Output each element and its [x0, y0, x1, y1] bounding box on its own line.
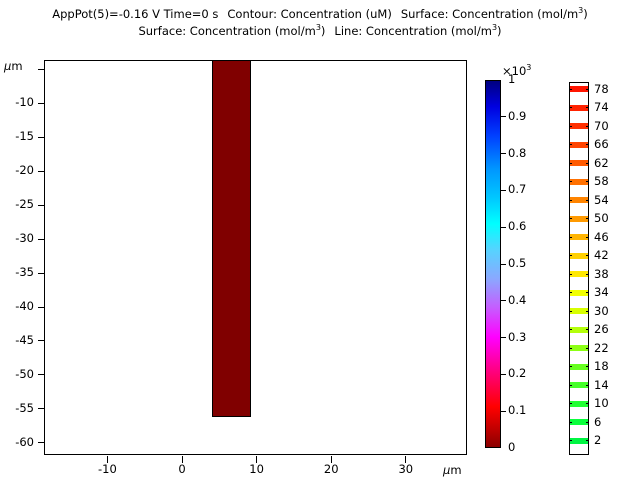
colorbar-tick: [501, 116, 506, 117]
colorbar-tick-label: 0.2: [508, 368, 526, 380]
contour-legend-tick-left: [569, 366, 572, 367]
x-axis-tick-label: 0: [157, 463, 207, 475]
title-line-label: Line: Concentration (mol/m3): [334, 24, 501, 38]
contour-legend-label: 62: [594, 158, 609, 170]
contour-legend-tick-right: [586, 89, 589, 90]
y-axis-tick-label: -60: [0, 437, 34, 449]
colorbar-tick: [501, 227, 506, 228]
contour-legend-band: [570, 86, 588, 92]
contour-legend-band: [570, 401, 588, 407]
surface-colorbar[interactable]: [485, 80, 501, 448]
contour-legend-band: [570, 308, 588, 314]
contour-legend-band: [570, 253, 588, 259]
colorbar-tick-label: 0.3: [508, 332, 526, 344]
y-axis-tick: [38, 239, 45, 240]
contour-legend-label: 22: [594, 343, 609, 355]
contour-legend-tick-left: [569, 144, 572, 145]
contour-legend-tick-right: [586, 366, 589, 367]
contour-legend-tick-right: [586, 329, 589, 330]
contour-legend-band: [570, 271, 588, 277]
contour-legend-tick-right: [586, 422, 589, 423]
colorbar-tick: [501, 374, 506, 375]
contour-legend-band: [570, 216, 588, 222]
contour-legend-band: [570, 179, 588, 185]
contour-legend-tick-left: [569, 292, 572, 293]
contour-legend-tick-left: [569, 329, 572, 330]
x-axis-tick-label: -10: [82, 463, 132, 475]
contour-legend-tick-left: [569, 348, 572, 349]
contour-legend-tick-left: [569, 200, 572, 201]
contour-legend-label: 18: [594, 361, 609, 373]
y-axis-tick-label: -35: [0, 267, 34, 279]
y-axis-tick: [38, 137, 45, 138]
y-axis-tick: [38, 374, 45, 375]
y-axis-tick-label: -10: [0, 97, 34, 109]
contour-legend-label: 78: [594, 84, 609, 96]
contour-legend-tick-left: [569, 440, 572, 441]
y-axis-tick-label: -40: [0, 301, 34, 313]
y-axis-tick-label: -15: [0, 131, 34, 143]
contour-legend-tick-left: [569, 89, 572, 90]
contour-legend-label: 54: [594, 195, 609, 207]
y-axis-tick-label: -50: [0, 369, 34, 381]
y-axis-tick: [38, 408, 45, 409]
contour-legend-band: [570, 382, 588, 388]
colorbar-tick: [501, 300, 506, 301]
y-axis-unit-label: μm: [4, 59, 23, 73]
contour-legend-label: 50: [594, 213, 609, 225]
y-axis-tick: [38, 442, 45, 443]
surface-region-electrode-channel: [212, 60, 251, 417]
contour-legend-tick-right: [586, 440, 589, 441]
contour-legend-tick-left: [569, 218, 572, 219]
contour-legend-tick-right: [586, 237, 589, 238]
y-axis-tick: [38, 103, 45, 104]
y-axis-tick-label: -55: [0, 403, 34, 415]
contour-legend-label: 74: [594, 102, 609, 114]
colorbar-tick-label: 0.4: [508, 295, 526, 307]
y-axis-tick-label: -30: [0, 233, 34, 245]
contour-legend-tick-left: [569, 107, 572, 108]
y-axis-tick-label: -45: [0, 335, 34, 347]
colorbar-tick-label: 0.6: [508, 221, 526, 233]
contour-legend-tick-right: [586, 255, 589, 256]
colorbar-tick-label: 0: [508, 442, 515, 454]
y-axis-tick-label: -20: [0, 165, 34, 177]
title-apppot-time: AppPot(5)=-0.16 V Time=0 s: [52, 7, 218, 21]
contour-legend-label: 34: [594, 287, 609, 299]
contour-legend-tick-right: [586, 292, 589, 293]
x-axis-tick-label: 30: [381, 463, 431, 475]
contour-legend-label: 46: [594, 232, 609, 244]
colorbar-tick: [501, 153, 506, 154]
plot-area[interactable]: [44, 60, 467, 455]
contour-legend-tick-right: [586, 311, 589, 312]
colorbar-tick-label: 0.5: [508, 258, 526, 270]
contour-legend-band: [570, 123, 588, 129]
contour-legend-label: 14: [594, 380, 609, 392]
x-axis-tick-label: 10: [232, 463, 282, 475]
figure-canvas: AppPot(5)=-0.16 V Time=0 sContour: Conce…: [0, 0, 640, 480]
contour-legend-tick-left: [569, 255, 572, 256]
contour-legend-label: 6: [594, 417, 601, 429]
contour-legend-label: 58: [594, 176, 609, 188]
contour-legend-tick-right: [586, 181, 589, 182]
contour-legend-tick-left: [569, 163, 572, 164]
y-axis-tick: [38, 273, 45, 274]
contour-legend-band: [570, 364, 588, 370]
y-axis-tick-label: -25: [0, 199, 34, 211]
contour-legend-tick-right: [586, 144, 589, 145]
contour-legend-tick-left: [569, 181, 572, 182]
colorbar-tick: [501, 264, 506, 265]
colorbar-tick-label: 0.8: [508, 148, 526, 160]
contour-legend-label: 42: [594, 250, 609, 262]
contour-legend-tick-left: [569, 311, 572, 312]
colorbar-exponent-label: ×103: [502, 66, 531, 78]
y-axis-tick: [38, 340, 45, 341]
contour-legend-band: [570, 438, 588, 444]
colorbar-tick-label: 0.1: [508, 405, 526, 417]
title-surface-label-2: Surface: Concentration (mol/m3): [138, 24, 325, 38]
contour-legend-tick-right: [586, 218, 589, 219]
contour-legend-tick-right: [586, 200, 589, 201]
contour-legend[interactable]: [569, 82, 589, 455]
colorbar-tick-label: 0.7: [508, 184, 526, 196]
colorbar-tick-label: 1: [508, 74, 515, 86]
contour-legend-tick-left: [569, 126, 572, 127]
contour-legend-tick-left: [569, 385, 572, 386]
contour-legend-tick-left: [569, 422, 572, 423]
contour-legend-band: [570, 234, 588, 240]
x-axis-tick-label: 20: [306, 463, 356, 475]
y-axis-tick: [38, 307, 45, 308]
colorbar-tick-label: 0.9: [508, 111, 526, 123]
contour-legend-tick-right: [586, 163, 589, 164]
contour-legend-band: [570, 327, 588, 333]
contour-legend-label: 26: [594, 324, 609, 336]
contour-legend-label: 2: [594, 435, 601, 447]
y-axis-tick: [38, 205, 45, 206]
contour-legend-tick-right: [586, 274, 589, 275]
contour-legend-label: 66: [594, 139, 609, 151]
contour-legend-tick-left: [569, 403, 572, 404]
contour-legend-label: 30: [594, 306, 609, 318]
contour-legend-tick-right: [586, 126, 589, 127]
y-axis-tick: [38, 171, 45, 172]
colorbar-tick: [501, 337, 506, 338]
contour-legend-band: [570, 142, 588, 148]
contour-legend-tick-right: [586, 348, 589, 349]
title-surface-label-1: Surface: Concentration (mol/m3): [401, 7, 588, 21]
title-contour-label: Contour: Concentration (uM): [227, 7, 391, 21]
contour-legend-tick-left: [569, 237, 572, 238]
contour-legend-band: [570, 345, 588, 351]
y-axis-tick: [38, 69, 45, 70]
contour-legend-band: [570, 105, 588, 111]
contour-legend-band: [570, 197, 588, 203]
contour-legend-label: 38: [594, 269, 609, 281]
contour-legend-tick-right: [586, 403, 589, 404]
x-axis-unit-label: μm: [443, 463, 462, 477]
colorbar-tick: [501, 190, 506, 191]
contour-legend-band: [570, 290, 588, 296]
contour-legend-label: 70: [594, 121, 609, 133]
contour-legend-band: [570, 419, 588, 425]
contour-legend-band: [570, 160, 588, 166]
plot-title: AppPot(5)=-0.16 V Time=0 sContour: Conce…: [0, 6, 640, 40]
contour-legend-tick-right: [586, 107, 589, 108]
plot-title-line-1: AppPot(5)=-0.16 V Time=0 sContour: Conce…: [0, 6, 640, 23]
plot-title-line-2: Surface: Concentration (mol/m3)Line: Con…: [0, 23, 640, 40]
contour-legend-label: 10: [594, 398, 609, 410]
contour-legend-tick-left: [569, 274, 572, 275]
contour-legend-tick-right: [586, 385, 589, 386]
colorbar-tick: [501, 411, 506, 412]
